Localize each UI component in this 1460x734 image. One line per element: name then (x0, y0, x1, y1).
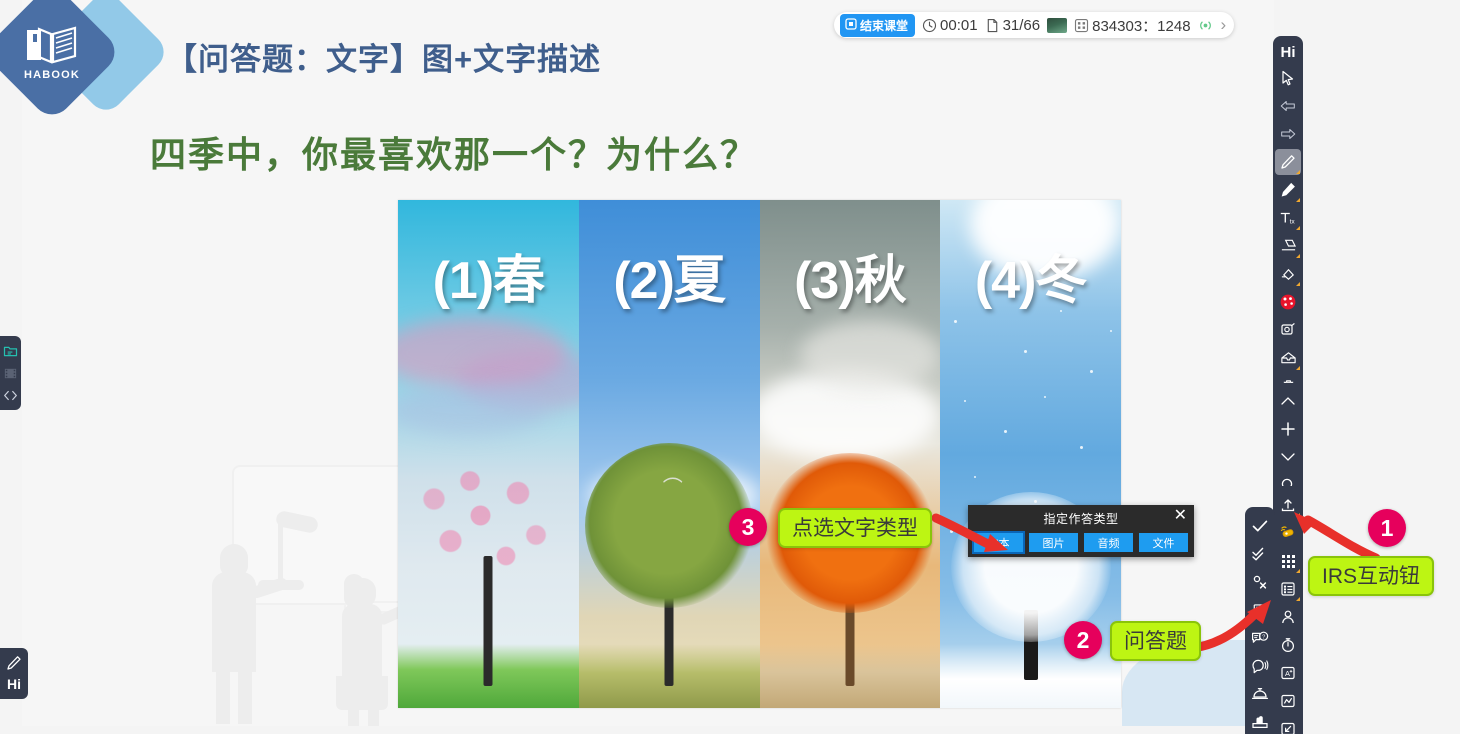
pencil-icon[interactable] (1275, 149, 1301, 175)
question-heading: 四季中，你最喜欢那一个？为什么？ (150, 126, 758, 178)
pen-toolbar-brand-label: Hi (7, 674, 21, 695)
slide-canvas[interactable]: (1)春 ︵ (2)夏 (3)秋 (22, 0, 1274, 726)
season-label: (3)秋 (760, 238, 941, 313)
double-check-icon[interactable] (1247, 541, 1273, 567)
wifi-icon[interactable] (1198, 18, 1213, 33)
end-class-button[interactable]: 结束课堂 (840, 14, 915, 37)
clock-icon (922, 18, 937, 33)
shape-fill-icon[interactable] (1275, 261, 1301, 287)
season-panel-spring: (1)春 (398, 200, 579, 708)
logo-text: HABOOK (24, 69, 80, 81)
status-bar[interactable]: 结束课堂 00:01 31/66 834303：1248 › (834, 12, 1234, 38)
svg-text:A: A (1285, 669, 1290, 678)
timer-icon[interactable] (1275, 632, 1301, 658)
raise-hand-icon[interactable] (1247, 709, 1273, 734)
pen-toolbar[interactable]: Hi (0, 648, 28, 699)
page-icon (985, 18, 1000, 33)
stop-square-icon (845, 18, 857, 33)
end-class-label: 结束课堂 (860, 17, 908, 34)
close-icon[interactable]: ✕ (1174, 508, 1187, 524)
annotation-badge-2: 2 (1064, 621, 1102, 659)
plus-icon[interactable] (1275, 416, 1301, 442)
book-icon (23, 24, 81, 66)
season-label: (2)夏 (579, 238, 760, 313)
pencil-icon[interactable] (5, 653, 24, 673)
film-icon[interactable] (1, 363, 20, 383)
screenshot-icon[interactable] (1275, 317, 1301, 343)
eraser-icon[interactable] (1275, 233, 1301, 259)
annotation-badge-1: 1 (1368, 509, 1406, 547)
annotation-badge-3: 3 (729, 508, 767, 546)
season-label: (1)春 (398, 238, 579, 313)
answer-type-file-button[interactable]: 文件 (1139, 533, 1188, 552)
main-toolbar[interactable]: Hi tx (1273, 36, 1303, 434)
cursor-icon[interactable] (1275, 65, 1301, 91)
student-icon[interactable] (1275, 604, 1301, 630)
svg-text:tx: tx (1290, 218, 1296, 225)
folder-icon[interactable] (1, 341, 20, 361)
annotation-label-pick-text-type: 点选文字类型 (778, 508, 932, 548)
season-panel-summer: ︵ (2)夏 (579, 200, 760, 708)
habook-logo: HABOOK (0, 0, 150, 110)
redo-arrow-icon[interactable] (1275, 121, 1301, 147)
expand-chevron-icon[interactable]: › (1220, 15, 1227, 35)
timer-value: 00:01 (940, 17, 978, 34)
room-code-value: 834303：1248 (1092, 15, 1190, 36)
seasons-image[interactable]: (1)春 ︵ (2)夏 (3)秋 (398, 200, 1121, 708)
media-toolbar[interactable] (0, 336, 21, 410)
annotation-arrow-3 (930, 512, 1010, 557)
inbox-icon[interactable] (1275, 345, 1301, 371)
palette-icon[interactable] (1275, 289, 1301, 315)
minimize-icon[interactable] (1275, 716, 1301, 734)
annotation-label-qa-type: 问答题 (1110, 621, 1201, 661)
code-icon[interactable] (1, 385, 20, 405)
season-label: (4)冬 (940, 238, 1121, 313)
season-panel-autumn: (3)秋 (760, 200, 941, 708)
toolbar-brand-label: Hi (1281, 40, 1296, 64)
bell-icon[interactable] (1247, 681, 1273, 707)
list-icon[interactable] (1275, 576, 1301, 602)
undo-arrow-icon[interactable] (1275, 93, 1301, 119)
chevron-down-icon[interactable] (1275, 444, 1301, 470)
pick-random-icon[interactable] (1247, 569, 1273, 595)
check-icon[interactable] (1247, 513, 1273, 539)
page-nav-toolbar[interactable] (1273, 383, 1303, 503)
marker-icon[interactable] (1275, 177, 1301, 203)
answer-type-audio-button[interactable]: 音频 (1084, 533, 1133, 552)
stats-icon[interactable] (1275, 688, 1301, 714)
screen-thumb-icon[interactable] (1047, 18, 1067, 33)
grade-icon[interactable]: A (1275, 660, 1301, 686)
page-value: 31/66 (1003, 17, 1041, 34)
qr-icon (1074, 18, 1089, 33)
speak-icon[interactable] (1247, 653, 1273, 679)
answer-type-image-button[interactable]: 图片 (1029, 533, 1078, 552)
chevron-up-icon[interactable] (1275, 388, 1301, 414)
app-root: (1)春 ︵ (2)夏 (3)秋 (0, 0, 1460, 734)
timer-segment[interactable]: 00:01 (922, 17, 978, 34)
text-tool-icon[interactable]: tx (1275, 205, 1301, 231)
room-code-segment[interactable]: 834303：1248 (1074, 15, 1190, 36)
page-title: 【问答题：文字】图+文字描述 (166, 34, 601, 79)
annotation-label-irs-button: IRS互动钮 (1308, 556, 1434, 596)
page-segment[interactable]: 31/66 (985, 17, 1041, 34)
